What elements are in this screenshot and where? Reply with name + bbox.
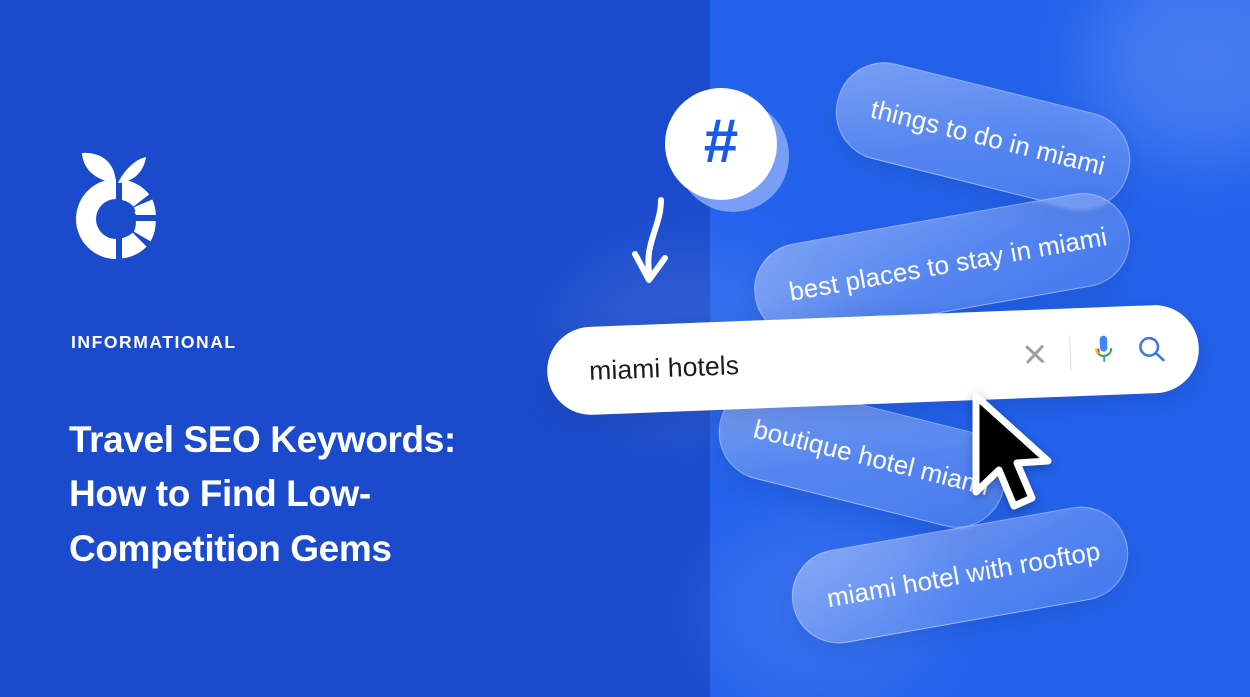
hashtag-badge: # xyxy=(665,88,789,212)
microphone-icon[interactable] xyxy=(1090,335,1117,368)
hashtag-icon: # xyxy=(704,111,738,173)
search-icon[interactable] xyxy=(1136,334,1167,365)
curved-down-arrow-icon xyxy=(627,196,687,288)
brand-logo xyxy=(70,143,166,263)
divider xyxy=(1069,335,1071,369)
search-actions xyxy=(1019,332,1167,372)
category-eyebrow: INFORMATIONAL xyxy=(71,334,237,352)
search-input[interactable]: miami hotels xyxy=(589,350,740,387)
page-title: Travel SEO Keywords: How to Find Low- Co… xyxy=(69,413,549,576)
mouse-pointer-cursor xyxy=(968,392,1060,516)
close-icon[interactable] xyxy=(1019,338,1050,369)
hashtag-badge-circle: # xyxy=(665,88,777,200)
banner-canvas: INFORMATIONAL Travel SEO Keywords: How t… xyxy=(0,0,1250,697)
